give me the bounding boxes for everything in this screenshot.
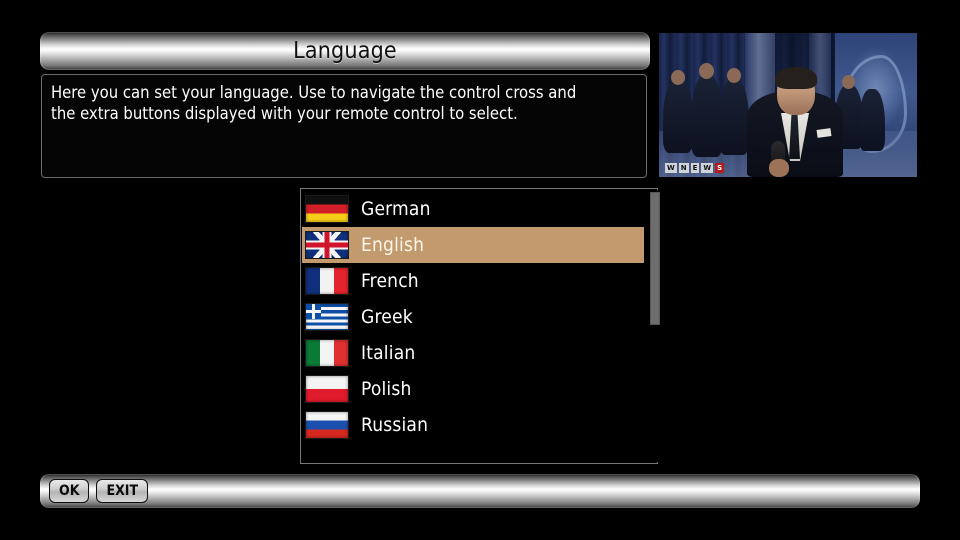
- language-list-item[interactable]: Polish: [302, 371, 644, 407]
- language-list-panel: German English French Greek Italian Poli: [300, 188, 658, 464]
- video-anchor-hand: [769, 159, 789, 177]
- language-list-item[interactable]: Greek: [302, 299, 644, 335]
- exit-button[interactable]: EXIT: [96, 479, 148, 503]
- title-bar: Language: [40, 32, 650, 70]
- list-scrollbar-track[interactable]: [650, 190, 660, 462]
- softkey-group: OK EXIT: [49, 479, 148, 503]
- language-label: Italian: [361, 342, 415, 364]
- flag-germany-icon: [305, 195, 349, 223]
- language-label: Polish: [361, 378, 412, 400]
- language-label: French: [361, 270, 419, 292]
- channel-logo-part: N: [679, 163, 689, 173]
- channel-logo: W N E W S: [665, 163, 724, 173]
- channel-logo-part: W: [665, 163, 677, 173]
- video-anchor-hair: [775, 67, 817, 89]
- ok-button[interactable]: OK: [49, 479, 89, 503]
- flag-poland-icon: [305, 375, 349, 403]
- channel-logo-part: E: [691, 163, 700, 173]
- flag-russia-icon: [305, 411, 349, 439]
- video-crowd-head: [671, 70, 685, 85]
- description-text: Here you can set your language. Use to n…: [51, 82, 638, 124]
- video-crowd-figure: [859, 89, 885, 151]
- language-label: German: [361, 198, 431, 220]
- video-crowd-figure: [663, 79, 693, 153]
- flag-greece-icon: [305, 303, 349, 331]
- flag-united-kingdom-icon: [305, 231, 349, 259]
- channel-logo-part: S: [715, 163, 724, 173]
- page-title: Language: [40, 32, 650, 70]
- language-list-item[interactable]: Italian: [302, 335, 644, 371]
- video-crowd-figure: [719, 79, 749, 155]
- video-crowd-head: [727, 68, 741, 83]
- language-label: Greek: [361, 306, 413, 328]
- language-list-item-selected[interactable]: English: [302, 227, 644, 263]
- language-label: Russian: [361, 414, 428, 436]
- video-crowd-head: [699, 63, 714, 79]
- language-list-item[interactable]: French: [302, 263, 644, 299]
- flag-france-icon: [305, 267, 349, 295]
- language-list: German English French Greek Italian Poli: [302, 191, 644, 443]
- video-crowd-head: [842, 75, 855, 89]
- bottom-toolbar: [40, 474, 920, 508]
- description-panel: Here you can set your language. Use to n…: [41, 74, 647, 178]
- flag-italy-icon: [305, 339, 349, 367]
- list-scrollbar-thumb[interactable]: [650, 192, 660, 325]
- language-label: English: [361, 234, 424, 256]
- tv-settings-screen: Language Here you can set your language.…: [0, 0, 960, 540]
- channel-logo-part: W: [701, 163, 713, 173]
- language-list-item[interactable]: German: [302, 191, 644, 227]
- video-preview[interactable]: W N E W S: [658, 32, 918, 178]
- language-list-item[interactable]: Russian: [302, 407, 644, 443]
